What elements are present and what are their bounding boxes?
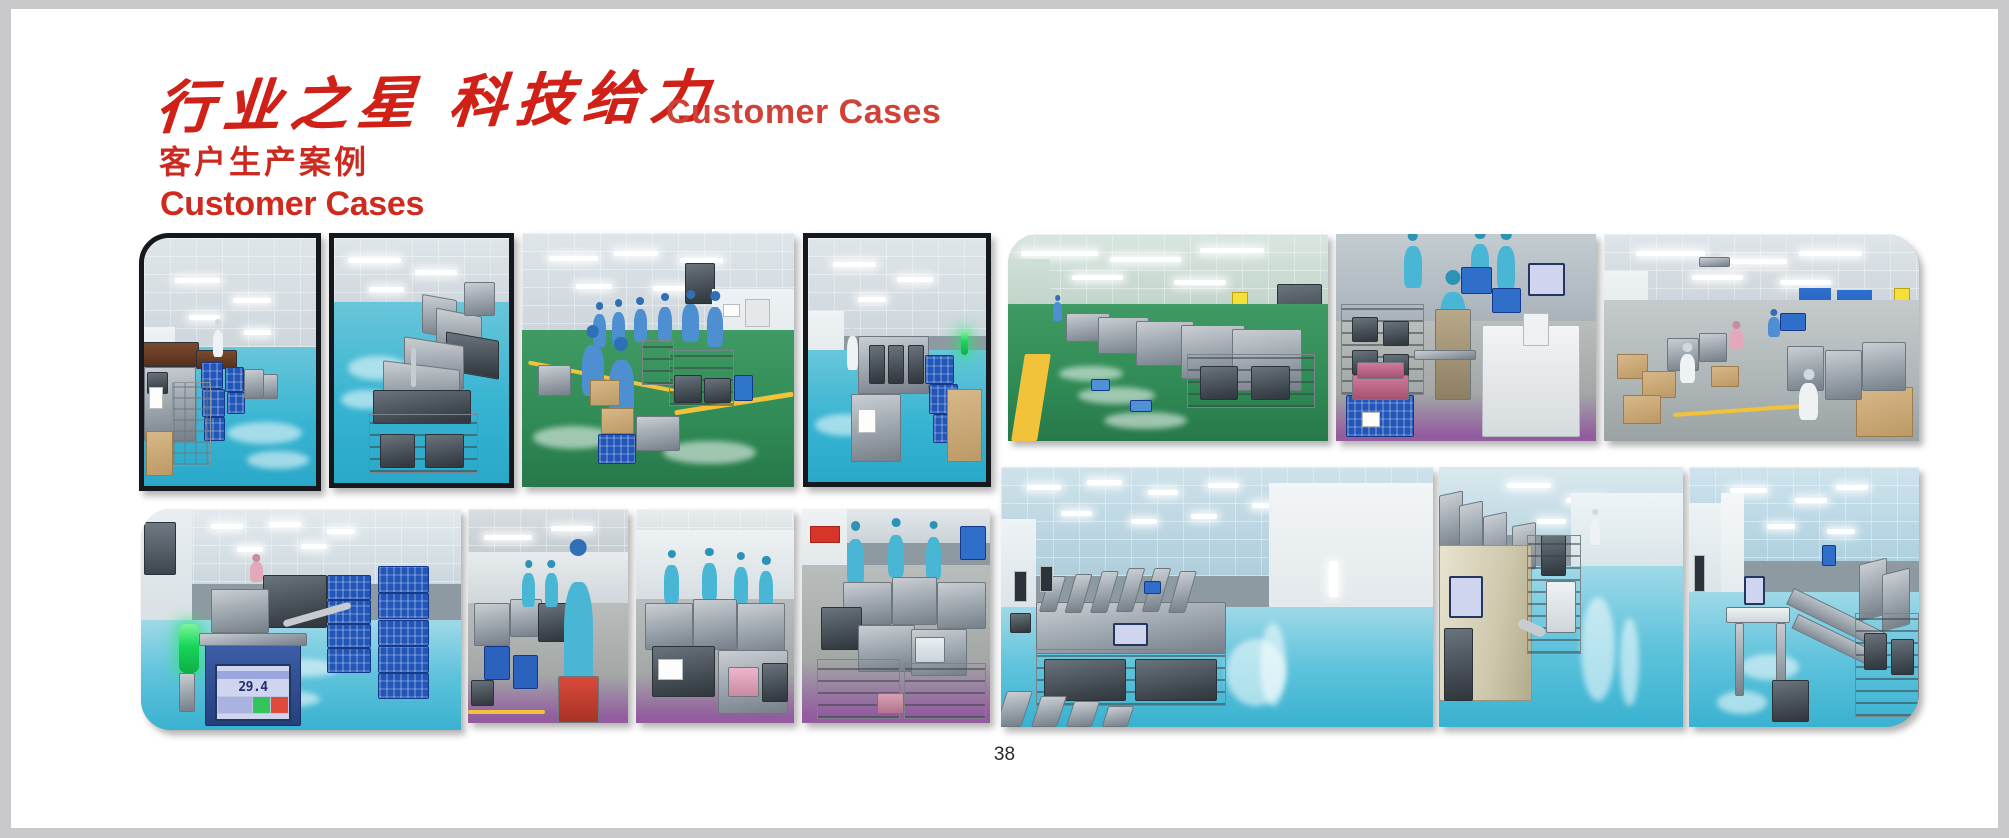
photo-8-hmi-screen: 29.4: [215, 664, 292, 721]
photo-8[interactable]: 29.4: [141, 509, 461, 730]
photo-6-hmi: [1528, 263, 1564, 296]
photo-4-scene: [808, 238, 986, 482]
photo-8-stack-light: [179, 624, 198, 673]
photo-9[interactable]: [468, 509, 628, 723]
photo-2-scene: [334, 238, 509, 483]
photo-5-scene: [1008, 234, 1328, 441]
photo-14-scene: [1689, 467, 1919, 727]
photo-13-hmi: [1449, 576, 1483, 618]
photo-3-scene: [522, 233, 794, 487]
page-number: 38: [11, 744, 1998, 766]
photo-6-scene: [1336, 234, 1596, 441]
photo-13-scene: [1439, 467, 1683, 727]
photo-5[interactable]: [1008, 234, 1328, 441]
calligraphy-title-cn: 行业之星 科技给力: [153, 51, 721, 145]
slide-canvas: 行业之星 科技给力 Customer Cases 客户生产案例 Customer…: [11, 9, 1998, 828]
photo-11[interactable]: [802, 509, 990, 723]
photo-1-scene: [144, 238, 316, 486]
photo-12-scene: [1001, 467, 1433, 727]
photo-2[interactable]: [329, 233, 514, 488]
subtitle-en: Customer Cases: [160, 185, 424, 224]
photo-9-scene: [468, 509, 628, 723]
photo-10[interactable]: [636, 509, 794, 723]
headline-customer-cases: Customer Cases: [666, 93, 941, 132]
photo-1[interactable]: [139, 233, 321, 491]
photo-8-scene: 29.4: [141, 509, 461, 730]
photo-4[interactable]: [803, 233, 991, 487]
photo-7-scene: [1604, 234, 1919, 441]
photo-7[interactable]: [1604, 234, 1919, 441]
subtitle-cn: 客户生产案例: [159, 137, 369, 183]
photo-14-hmi: [1744, 576, 1765, 605]
photo-10-scene: [636, 509, 794, 723]
photo-14[interactable]: [1689, 467, 1919, 727]
document-viewer: 行业之星 科技给力 Customer Cases 客户生产案例 Customer…: [0, 0, 2009, 838]
photo-6[interactable]: [1336, 234, 1596, 441]
hmi-weight-value: 29.4: [238, 680, 267, 695]
photo-11-scene: [802, 509, 990, 723]
photo-3[interactable]: [522, 233, 794, 487]
photo-13[interactable]: [1439, 467, 1683, 727]
photo-12-hmi: [1113, 623, 1148, 646]
slide-header: 行业之星 科技给力 Customer Cases 客户生产案例 Customer…: [11, 9, 1998, 229]
photo-12[interactable]: [1001, 467, 1433, 727]
